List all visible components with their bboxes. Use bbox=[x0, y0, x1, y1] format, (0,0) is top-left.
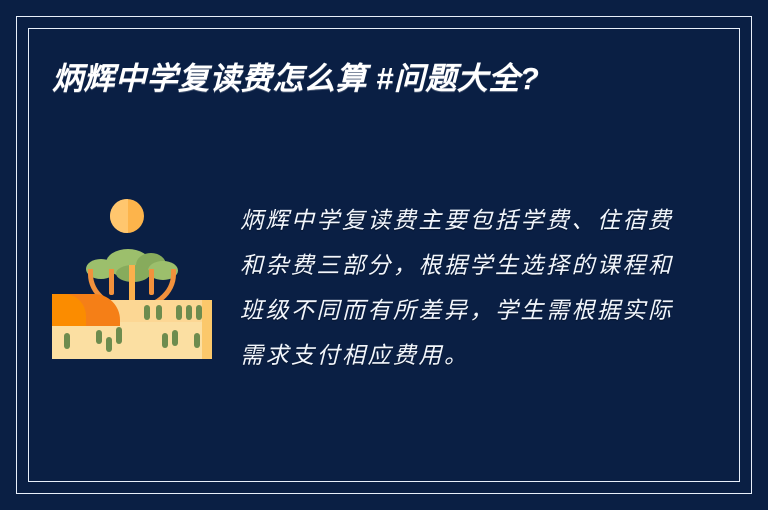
plant-mark bbox=[194, 333, 200, 348]
body-paragraph: 炳辉中学复读费主要包括学费、住宿费和杂费三部分，根据学生选择的课程和班级不同而有… bbox=[240, 198, 682, 378]
plant-mark bbox=[156, 305, 162, 320]
plant-mark bbox=[106, 337, 112, 352]
building-wall-right-edge bbox=[202, 300, 212, 359]
plant-mark bbox=[162, 333, 168, 348]
roof-hill-icon bbox=[52, 294, 120, 326]
plant-mark bbox=[186, 305, 192, 320]
branch-rib-1 bbox=[109, 269, 114, 295]
plant-mark bbox=[196, 305, 202, 320]
card-content: 炳辉中学复读费怎么算 #问题大全? bbox=[52, 52, 716, 470]
page-title: 炳辉中学复读费怎么算 #问题大全? bbox=[52, 52, 652, 105]
branch-rib-3 bbox=[149, 269, 154, 295]
sun-icon bbox=[110, 199, 144, 233]
plant-mark bbox=[64, 333, 70, 349]
school-campus-illustration bbox=[52, 193, 212, 359]
plant-mark bbox=[176, 305, 182, 320]
plant-mark bbox=[144, 305, 150, 320]
plant-mark bbox=[116, 327, 122, 344]
plant-mark bbox=[96, 330, 102, 344]
plant-mark bbox=[172, 330, 178, 346]
body-block: 炳辉中学复读费主要包括学费、住宿费和杂费三部分，根据学生选择的课程和班级不同而有… bbox=[52, 198, 716, 378]
